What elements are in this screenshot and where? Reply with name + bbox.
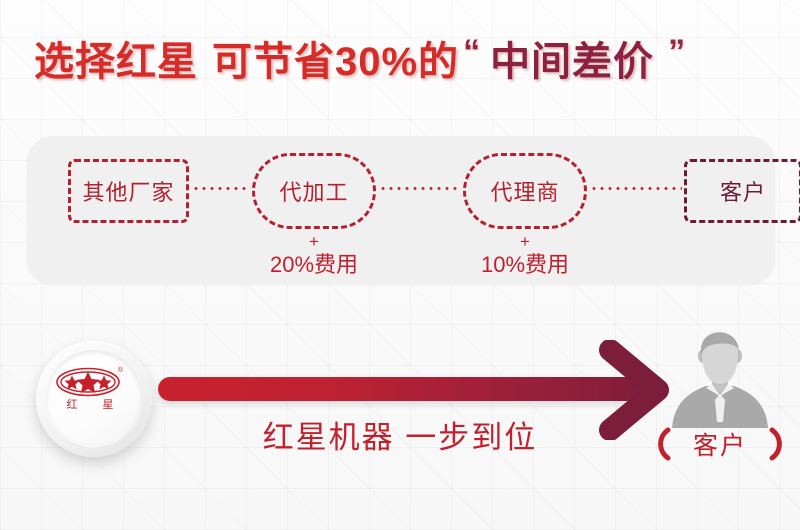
customer-silhouette-icon xyxy=(660,318,780,428)
quote-close-mark: ” xyxy=(668,33,685,72)
customer-label-group: 客户 xyxy=(640,424,800,464)
connector-dotted-3 xyxy=(590,187,682,190)
flow-node-client: 客户 xyxy=(684,159,800,223)
fee-plus-sign: + xyxy=(455,234,595,250)
headline: 选择红星 可节省30%的 “ 中间差价 ” xyxy=(0,32,800,92)
quote-open-mark: “ xyxy=(463,33,480,72)
arrow-shaft xyxy=(158,377,658,401)
flow-node-label: 客户 xyxy=(720,175,766,207)
fee-amount: 20%费用 xyxy=(244,250,384,280)
customer-label: 客户 xyxy=(640,424,800,464)
logo-wordmark: 红 星 xyxy=(54,399,126,411)
flow-node-agent: 代理商 xyxy=(463,153,587,229)
flow-node-other-factory: 其他厂家 xyxy=(68,159,189,223)
flow-node-label: 代理商 xyxy=(490,175,559,207)
connector-dotted-1 xyxy=(192,187,248,190)
registered-trademark-icon: ® xyxy=(118,367,123,374)
headline-part2: 可节省30%的 xyxy=(212,42,459,82)
headline-highlight: 中间差价 xyxy=(490,42,654,82)
fee-agent: + 10%费用 xyxy=(455,232,595,280)
flow-panel: 其他厂家 代加工 代理商 客户 + 20%费用 + 10%费用 xyxy=(27,136,775,284)
flow-node-oem: 代加工 xyxy=(252,153,376,229)
logo-char-left: 红 xyxy=(67,399,78,411)
fee-amount: 10%费用 xyxy=(455,250,595,280)
fee-plus-sign: + xyxy=(244,234,384,250)
logo-char-right: 星 xyxy=(103,399,114,411)
poster-canvas: 选择红星 可节省30%的 “ 中间差价 ” 其他厂家 代加工 代理商 客户 + … xyxy=(0,0,800,530)
flow-node-label: 其他厂家 xyxy=(82,175,174,207)
headline-part1: 选择红星 xyxy=(34,42,198,82)
flow-node-label: 代加工 xyxy=(279,175,348,207)
logo-star-oval-icon: ® 红 星 xyxy=(54,366,126,416)
fee-oem: + 20%费用 xyxy=(244,232,384,280)
connector-dotted-2 xyxy=(379,187,459,190)
